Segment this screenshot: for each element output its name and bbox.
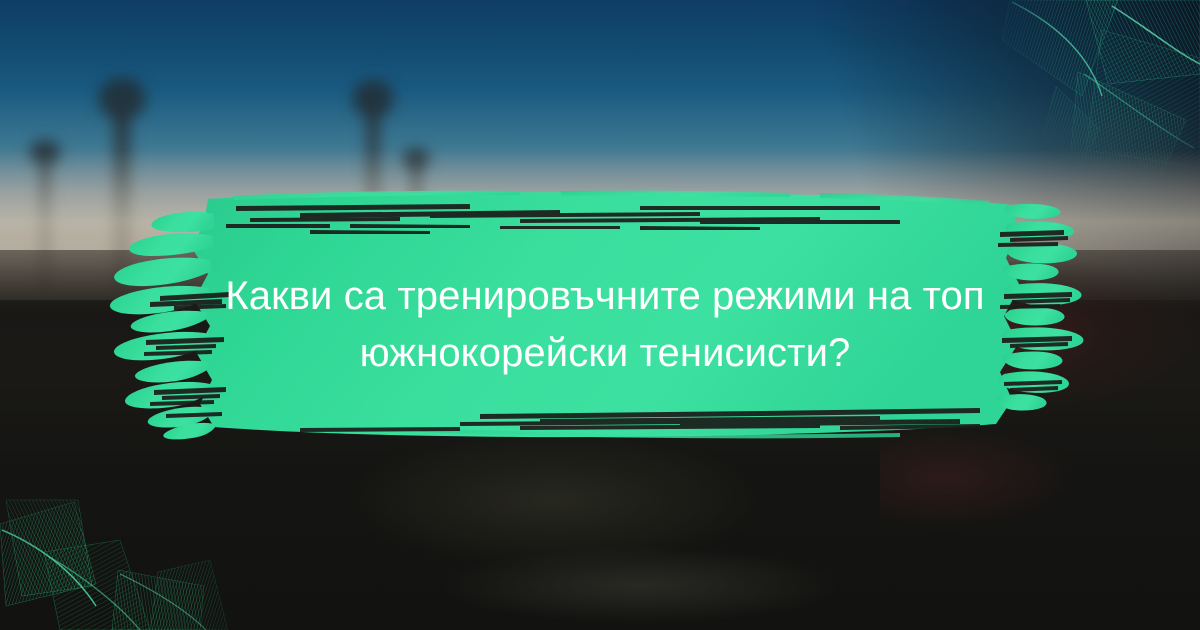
headline-text: Какви са тренировъчните режими на топ юж…	[170, 268, 1040, 382]
poster-canvas: Какви са тренировъчните режими на топ юж…	[0, 0, 1200, 630]
